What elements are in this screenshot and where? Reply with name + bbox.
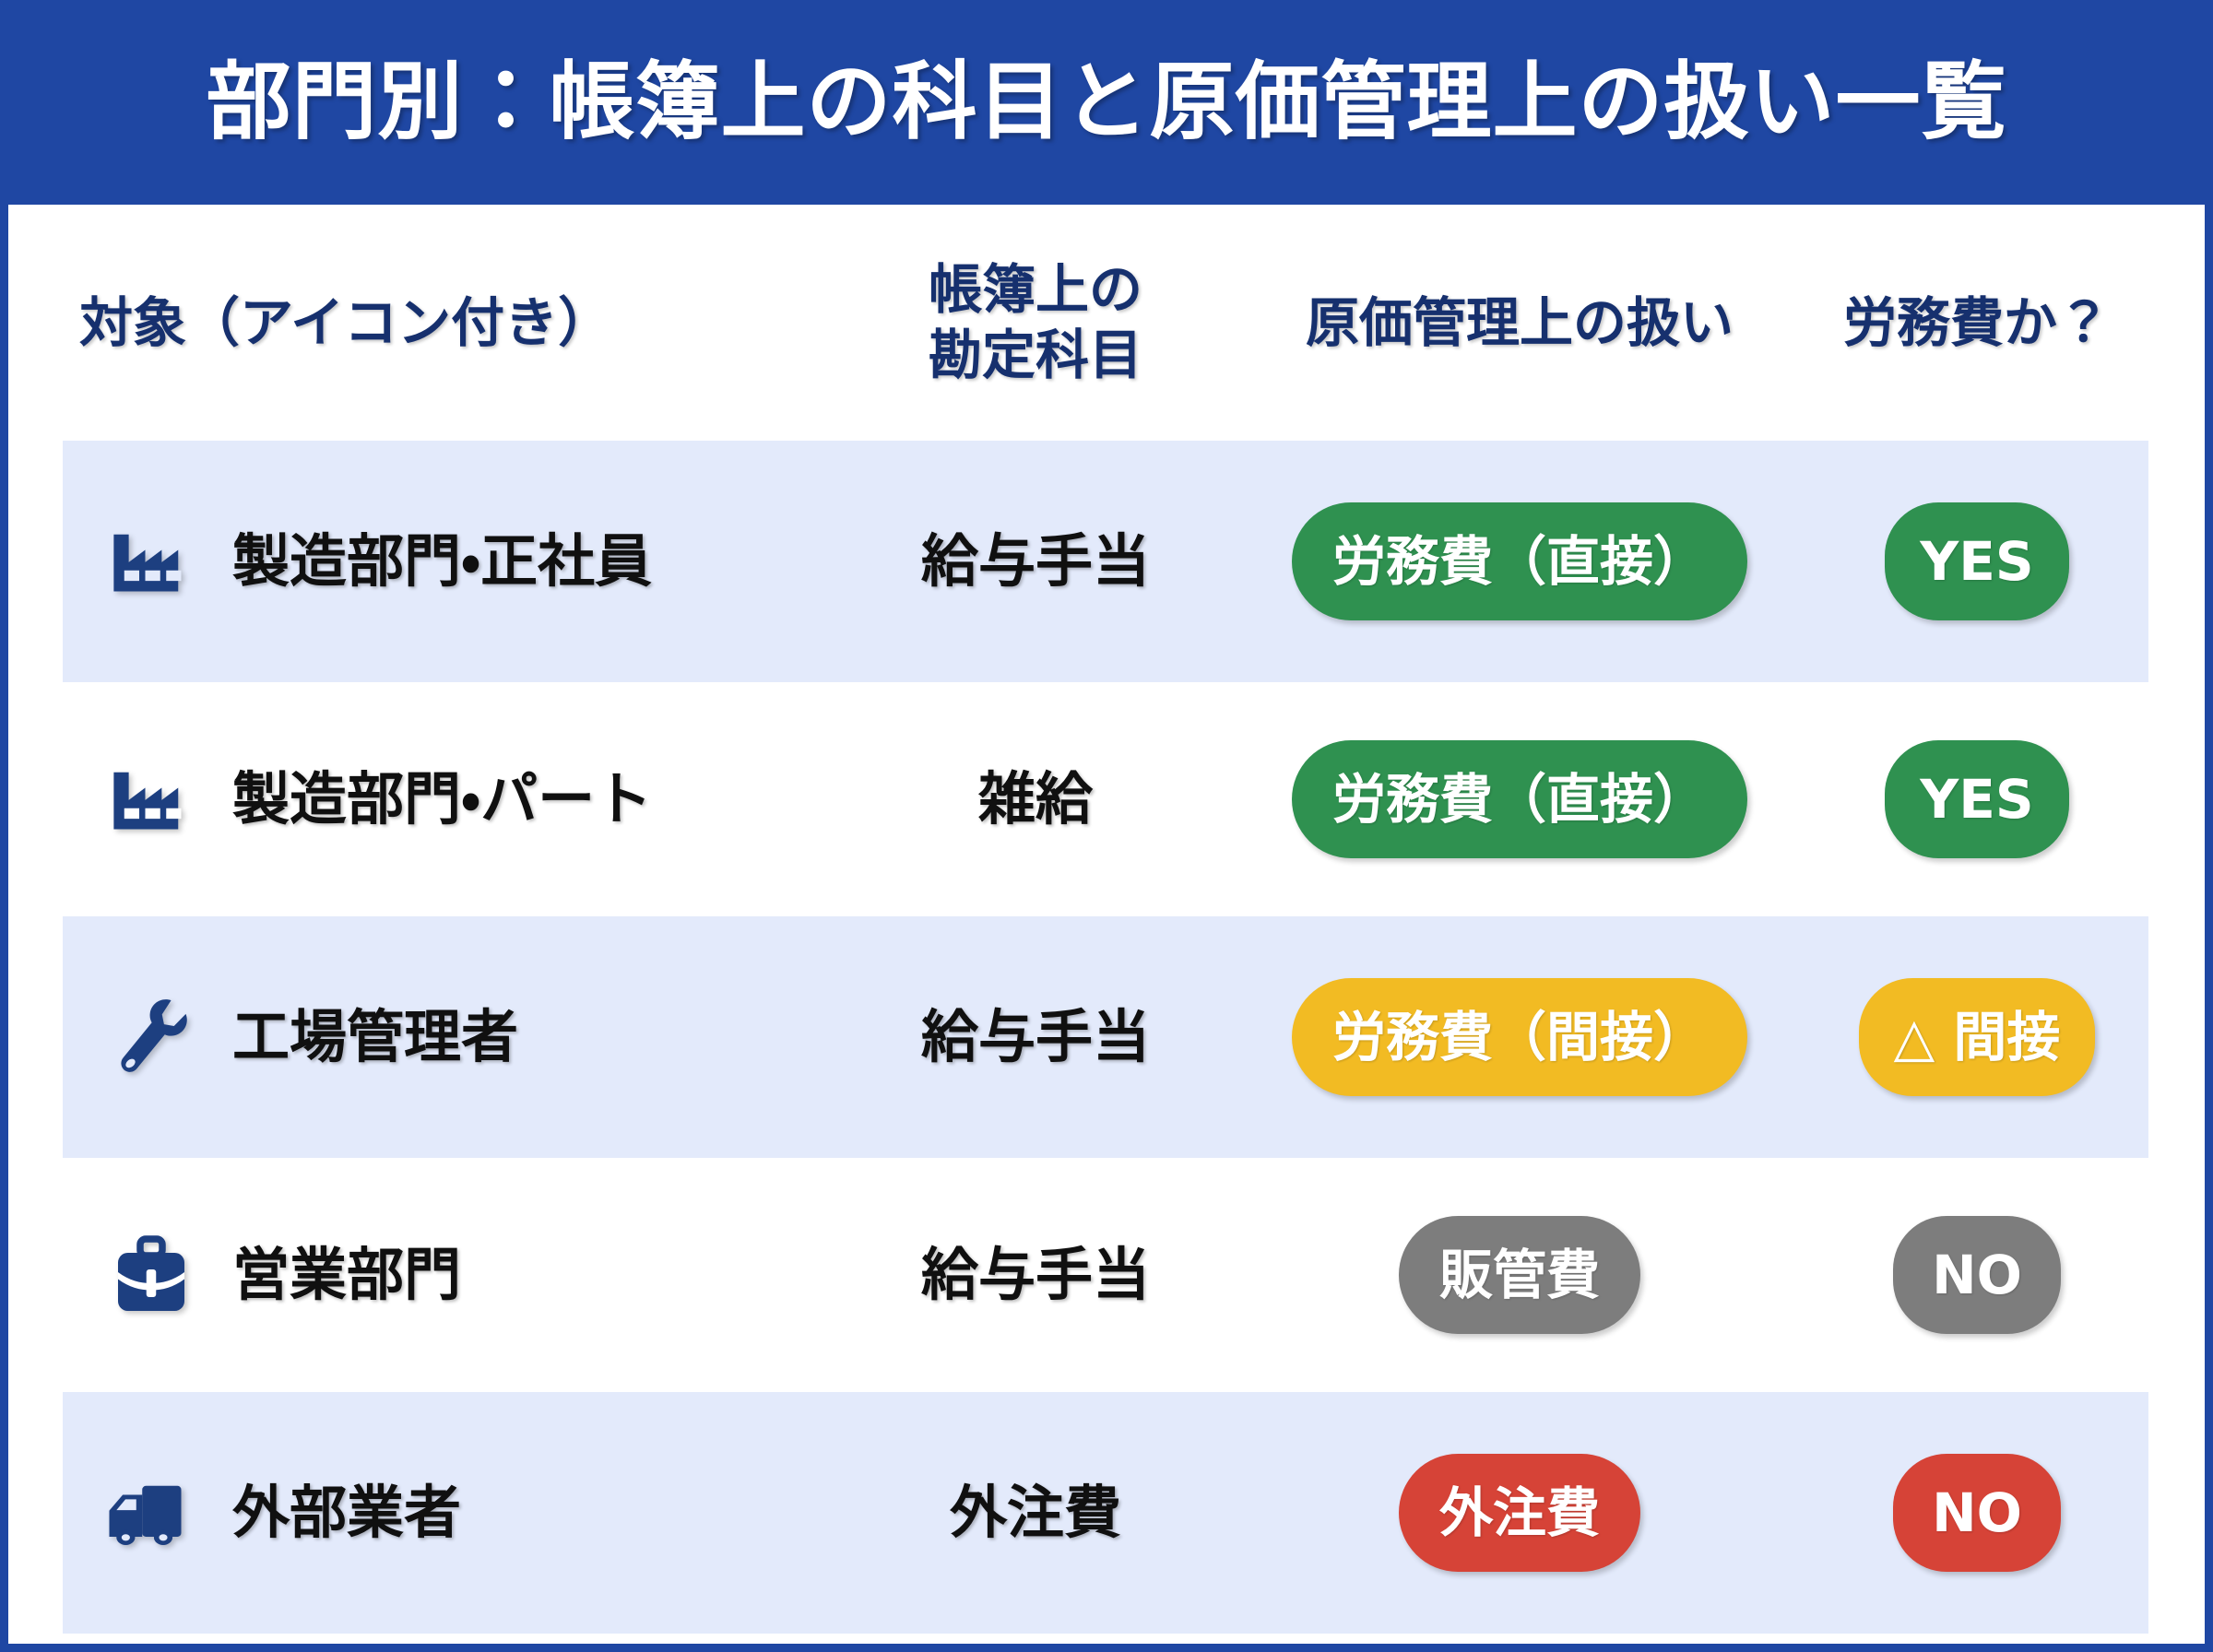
- labor-badge: YES: [1885, 502, 2068, 620]
- row-cost-cell: 労務費（直接）: [1234, 502, 1805, 620]
- row-target-label: 製造部門・正社員: [232, 533, 652, 590]
- row-target-cell: 製造部門・パート: [63, 749, 837, 849]
- row-target-label: 営業部門: [232, 1246, 461, 1304]
- row-labor-cell: NO: [1805, 1454, 2148, 1572]
- row-account-label: 給与手当: [921, 533, 1150, 590]
- row-target-label: 工場管理者: [232, 1009, 518, 1066]
- row-account-label: 給与手当: [921, 1009, 1150, 1066]
- cost-badge: 販管費: [1399, 1216, 1640, 1334]
- row-account-cell: 雑給: [837, 771, 1234, 828]
- column-header-target: 対象（アイコン付き）: [63, 290, 837, 356]
- labor-badge: YES: [1885, 740, 2068, 858]
- cost-badge: 外注費: [1399, 1454, 1640, 1572]
- factory-icon: [101, 512, 201, 611]
- column-header-cost: 原価管理上の扱い: [1234, 290, 1805, 356]
- column-header-account-label: 帳簿上の勘定科目: [929, 257, 1142, 388]
- cost-badge: 労務費（直接）: [1292, 502, 1747, 620]
- row-account-cell: 給与手当: [837, 533, 1234, 590]
- column-header-account-line1: 帳簿上の: [929, 258, 1142, 321]
- row-cost-cell: 労務費（間接）: [1234, 978, 1805, 1096]
- column-header-labor-label: 労務費か？: [1843, 290, 2111, 356]
- row-cost-cell: 労務費（直接）: [1234, 740, 1805, 858]
- table-row: 製造部門・正社員 給与手当 労務費（直接） YES: [63, 441, 2148, 682]
- cost-badge: 労務費（間接）: [1292, 978, 1747, 1096]
- page-title: 部門別：帳簿上の科目と原価管理上の扱い一覧: [206, 60, 2006, 145]
- comparison-table: 対象（アイコン付き） 帳簿上の勘定科目 原価管理上の扱い 労務費か？: [0, 205, 2213, 1644]
- labor-badge: NO: [1893, 1454, 2061, 1572]
- row-target-label: 外部業者: [232, 1484, 461, 1541]
- cost-badge: 労務費（直接）: [1292, 740, 1747, 858]
- row-labor-cell: △ 間接: [1805, 978, 2148, 1096]
- column-header-account-line2: 勘定科目: [929, 324, 1142, 386]
- table-row: 工場管理者 給与手当 労務費（間接） △ 間接: [63, 916, 2148, 1158]
- table-row: 営業部門 給与手当 販管費 NO: [63, 1158, 2148, 1392]
- column-header-labor: 労務費か？: [1805, 290, 2148, 356]
- row-target-cell: 製造部門・正社員: [63, 512, 837, 611]
- table-header-row: 対象（アイコン付き） 帳簿上の勘定科目 原価管理上の扱い 労務費か？: [63, 205, 2148, 441]
- row-labor-cell: YES: [1805, 502, 2148, 620]
- row-cost-cell: 販管費: [1234, 1216, 1805, 1334]
- factory-icon: [101, 749, 201, 849]
- row-target-label: 製造部門・パート: [232, 771, 652, 828]
- table-row: 外部業者 外注費 外注費 NO: [63, 1392, 2148, 1634]
- labor-badge: NO: [1893, 1216, 2061, 1334]
- infographic-table-page: 部門別：帳簿上の科目と原価管理上の扱い一覧 対象（アイコン付き） 帳簿上の勘定科…: [0, 0, 2213, 1652]
- briefcase-icon: [101, 1225, 201, 1325]
- row-target-cell: 外部業者: [63, 1463, 837, 1563]
- row-account-cell: 外注費: [837, 1484, 1234, 1541]
- row-account-label: 外注費: [950, 1484, 1121, 1541]
- row-account-label: 給与手当: [921, 1246, 1150, 1304]
- row-labor-cell: NO: [1805, 1216, 2148, 1334]
- column-header-account: 帳簿上の勘定科目: [837, 257, 1234, 388]
- row-cost-cell: 外注費: [1234, 1454, 1805, 1572]
- labor-badge: △ 間接: [1859, 978, 2096, 1096]
- wrench-icon: [101, 987, 201, 1087]
- row-labor-cell: YES: [1805, 740, 2148, 858]
- row-account-cell: 給与手当: [837, 1246, 1234, 1304]
- title-bar: 部門別：帳簿上の科目と原価管理上の扱い一覧: [0, 0, 2213, 205]
- column-header-target-label: 対象（アイコン付き）: [79, 290, 611, 356]
- truck-icon: [101, 1463, 201, 1563]
- column-header-cost-label: 原価管理上の扱い: [1306, 290, 1734, 356]
- row-target-cell: 工場管理者: [63, 987, 837, 1087]
- table-row: 製造部門・パート 雑給 労務費（直接） YES: [63, 682, 2148, 916]
- row-account-cell: 給与手当: [837, 1009, 1234, 1066]
- row-target-cell: 営業部門: [63, 1225, 837, 1325]
- row-account-label: 雑給: [978, 771, 1093, 828]
